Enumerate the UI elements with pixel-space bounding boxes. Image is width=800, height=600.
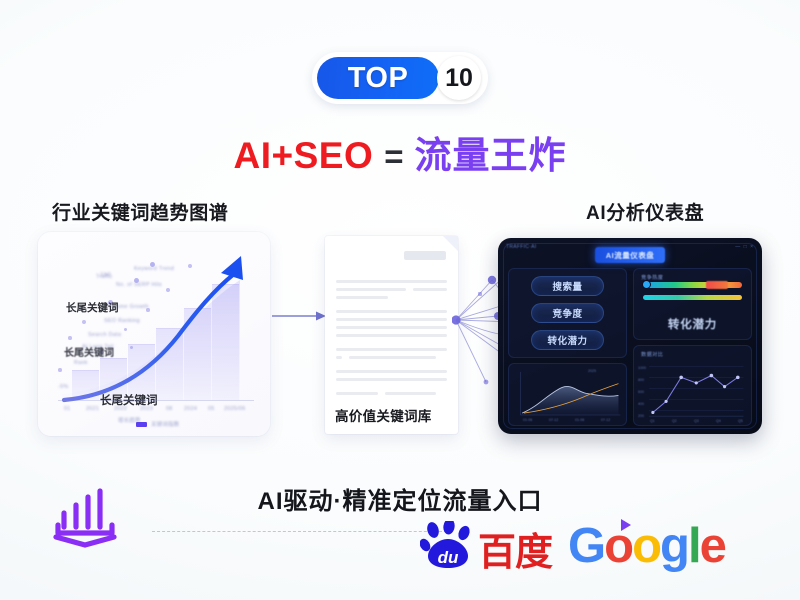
metric-pill-competition[interactable]: 竞争度: [531, 303, 604, 323]
dashboard-header: AI流量仪表盘: [505, 245, 755, 265]
trend-legend: 关键词指数: [136, 420, 179, 428]
google-logo[interactable]: Google: [568, 522, 725, 571]
top-rank-badge: TOP 10: [312, 52, 488, 104]
x-tick: 01: [64, 406, 71, 412]
gauge-bar-secondary: [643, 295, 742, 301]
x-tick: 2024: [184, 406, 197, 412]
area-legend-a: 2025: [588, 369, 596, 373]
document-title: 高价值关键词库: [335, 405, 432, 425]
ai-dashboard[interactable]: TRAFFIC·AI — □ × AI流量仪表盘 搜索量 竞争度 转化潜力: [498, 238, 762, 434]
area-x-tick: 01-06: [523, 418, 532, 422]
badge-number-circle: 10: [437, 56, 481, 100]
gauge-value-chip: [706, 281, 728, 289]
badge-label: TOP: [317, 62, 439, 95]
baidu-logo[interactable]: du 百度: [420, 521, 552, 571]
line-chart: [634, 346, 751, 425]
dashboard-title-badge: AI流量仪表盘: [595, 247, 666, 263]
gauge-handle[interactable]: [642, 280, 651, 289]
doc-header-block: [404, 251, 446, 260]
x-tick: 2021: [86, 406, 99, 412]
competition-gauge-panel[interactable]: 竞争热度 转化潜力: [633, 268, 752, 340]
x-tick: 2025/06: [224, 406, 246, 412]
line-x-tick: Q1: [650, 419, 655, 423]
metric-pill-conversion[interactable]: 转化潜力: [531, 330, 604, 350]
area-chart: [509, 364, 626, 425]
keyword-library-document: 高价值关键词库: [325, 236, 458, 434]
area-x-tick: 07-12: [549, 418, 558, 422]
page-fold-icon: [443, 236, 458, 251]
line-y-tick: 800: [638, 378, 644, 382]
trend-chart-inner: Keyword Trend No. of SERP Hits Volume Gr…: [38, 232, 270, 436]
google-letter: G: [568, 522, 604, 571]
legend-label: 关键词指数: [151, 420, 179, 428]
area-x-tick: 01-06: [575, 418, 584, 422]
section-label-dashboard: AI分析仪表盘: [586, 198, 704, 225]
baidu-paw-icon: du: [420, 521, 476, 571]
play-triangle-icon: [621, 519, 631, 531]
trend-chart-card: Keyword Trend No. of SERP Hits Volume Gr…: [38, 232, 270, 436]
metric-pill-panel: 搜索量 竞争度 转化潜力: [508, 268, 627, 358]
title-part-ai-seo: AI+SEO: [233, 135, 373, 176]
line-x-tick: Q3: [694, 419, 699, 423]
flow-arrow-icon: [272, 310, 328, 322]
line-x-tick: Q2: [672, 419, 677, 423]
trend-x-axis: [58, 400, 254, 401]
bar-chart-pedestal-icon: [48, 483, 122, 555]
area-x-tick: 07-12: [601, 418, 610, 422]
google-letter: l: [688, 522, 700, 571]
metric-pill-search-volume[interactable]: 搜索量: [531, 276, 604, 296]
baidu-wordmark: 百度: [478, 535, 552, 571]
google-letter: g: [660, 522, 688, 571]
line-y-tick: 400: [638, 402, 644, 406]
search-engine-logos: du 百度 Google: [420, 521, 725, 571]
gauge-overlay-label: 转化潜力: [634, 316, 751, 332]
x-tick: 2023: [140, 406, 153, 412]
x-tick: 08: [166, 406, 173, 412]
line-y-tick: 1000: [638, 366, 646, 370]
section-label-trend: 行业关键词趋势图谱: [52, 198, 228, 225]
line-chart-panel[interactable]: 数据对比: [633, 345, 752, 426]
google-letter: o: [632, 522, 660, 571]
title-part-result: 流量王炸: [415, 135, 567, 176]
footer-divider: [152, 531, 452, 532]
line-x-tick: Q5: [738, 419, 743, 423]
gauge-bar-primary: [643, 282, 742, 288]
legend-swatch: [136, 422, 147, 427]
line-y-tick: 600: [638, 390, 644, 394]
x-tick: 05: [208, 406, 215, 412]
dashboard-left-column: 搜索量 竞争度 转化潜力: [508, 268, 627, 426]
x-tick: 2022: [114, 406, 127, 412]
svg-text:du: du: [438, 548, 459, 567]
page-title: AI+SEO=流量王炸: [0, 125, 800, 179]
line-y-tick: 200: [638, 414, 644, 418]
title-equals-sign: =: [384, 138, 403, 175]
dashboard-body: 搜索量 竞争度 转化潜力: [505, 268, 755, 426]
area-chart-panel[interactable]: 2025 01-06 07-12 01-06 07-12: [508, 363, 627, 426]
google-letter: e: [700, 522, 725, 571]
line-x-tick: Q4: [716, 419, 721, 423]
dashboard-right-column: 竞争热度 转化潜力 数据对比: [633, 268, 752, 426]
badge-number: 10: [445, 64, 473, 93]
slide-canvas: TOP 10 AI+SEO=流量王炸 行业关键词趋势图谱 AI分析仪表盘: [0, 0, 800, 600]
